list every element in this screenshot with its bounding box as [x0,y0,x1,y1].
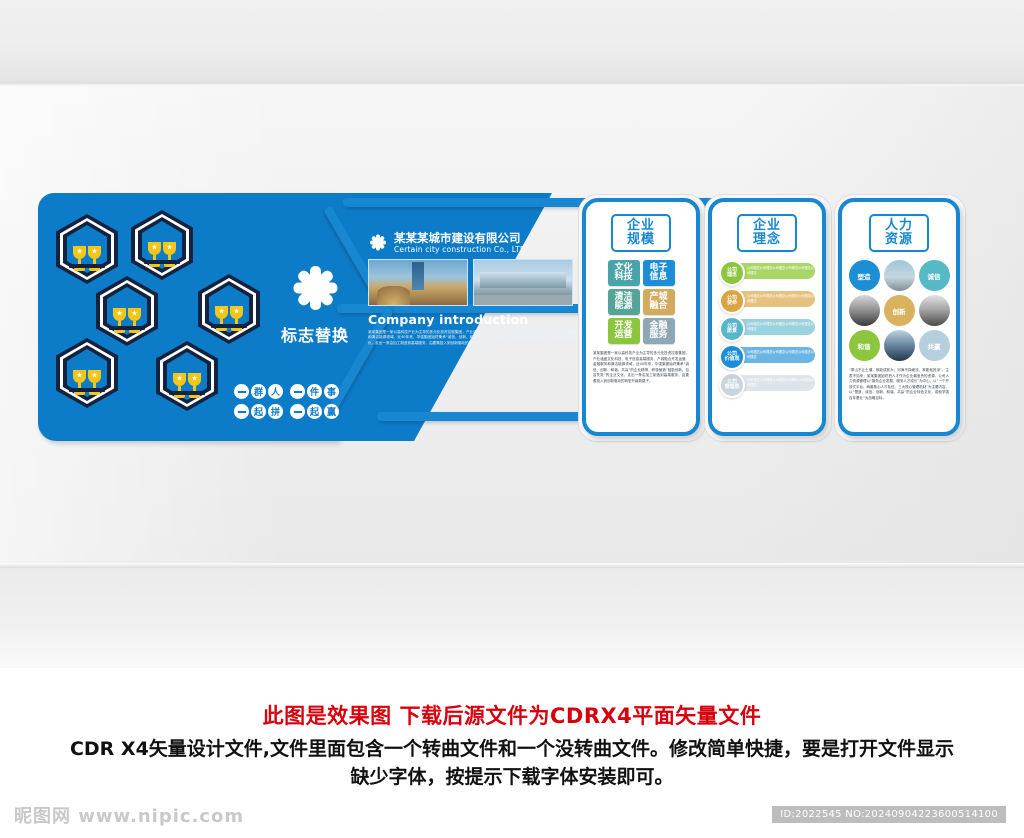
slogan-block: 群 人 件 事 起 拼 起 赢 [234,384,374,424]
flower-logo-icon-small [368,233,388,253]
company-photos [368,259,578,306]
panel-body-text: 某某集团是一家以高科技产业为主导的多元化投资控股集团，产业涵盖文化科技、电子信息… [593,351,689,385]
business-tag[interactable]: 文化科技 [608,260,640,286]
hex-badge[interactable] [56,338,118,408]
slogan-char: 事 [324,384,339,399]
slogan-char: 群 [251,384,266,399]
business-tag[interactable]: 开发运营 [608,318,640,344]
slogan-char [234,384,249,399]
panel-title: 企业规模 [611,214,671,252]
hex-badge[interactable] [96,276,158,346]
slogan-char [290,384,305,399]
image-id-badge: ID:2022545 NO:20240904223600514100 [772,806,1006,823]
company-intro-body: 某某集团是一家以高科技产业为主导的多元化投资控股集团，产业涵盖文化科技、电子信息… [368,330,578,347]
panel-human-resources[interactable]: 人力资源 塑造 诚信 创新 和谐 共赢 “泰山不让土壤，故能成其大；河海不择细流… [838,198,960,436]
watermark-text: 昵图网 www.nipic.com [14,802,244,828]
business-tag-grid: 文化科技 电子信息 清洁能源 产城融合 开发运营 金融服务 [593,260,689,344]
hr-value-circle[interactable]: 塑造 [849,260,880,291]
slogan-char [290,404,305,419]
black-caption: CDR X4矢量设计文件,文件里面包含一个转曲文件和一个没转曲文件。修改简单快捷… [62,736,962,791]
screenshot-canvas: 标志替换 某某某城市建设有限公司 Certain city constructi… [0,0,1024,838]
panel-company-scale[interactable]: 企业规模 文化科技 电子信息 清洁能源 产城融合 开发运营 金融服务 某某集团是… [582,198,700,436]
hr-value-circle[interactable]: 共赢 [919,330,950,361]
list-item[interactable]: 公司理念公司理念公司理念公司理念公司理念公司理念 公司使命 [719,288,815,310]
list-item[interactable]: 公司理念公司理念公司理念公司理念公司理念公司理念 公司价值观 [719,344,815,366]
business-tag[interactable]: 金融服务 [643,318,675,344]
hex-badge[interactable] [131,210,193,280]
panel-body-text: “泰山不让土壤，故能成其大；河海不择细流，故能就其深”。主表不如来，某某集团始终… [849,368,949,402]
list-item[interactable]: 公司理念公司理念公司理念公司理念公司理念公司理念 公司愿景 [719,316,815,338]
business-tag[interactable]: 清洁能源 [608,289,640,315]
hr-circle-grid: 塑造 诚信 创新 和谐 共赢 [849,260,949,361]
slogan-char [234,404,249,419]
company-intro-title: Company introduction [368,312,578,327]
logo-block[interactable]: 标志替换 [266,244,364,362]
slogan-char: 拼 [268,404,283,419]
trophy-plinth [69,264,105,268]
philosophy-badge: 公司管理观 [719,372,745,398]
hex-badge[interactable] [156,341,218,411]
list-item[interactable]: 公司理念公司理念公司理念公司理念公司理念公司理念 公司理念 [719,260,815,282]
business-people-photo [919,295,950,326]
flower-logo-icon [287,260,343,316]
team-photo [849,295,880,326]
panel-title: 企业理念 [737,214,797,252]
company-header: 某某某城市建设有限公司 Certain city construction Co… [368,232,578,254]
philosophy-badge: 公司使命 [719,288,745,314]
philosophy-badge: 公司理念 [719,260,745,286]
list-item[interactable]: 公司理念公司理念公司理念公司理念公司理念公司理念 公司管理观 [719,372,815,394]
philosophy-badge: 公司愿景 [719,316,745,342]
logo-placeholder-label: 标志替换 [281,322,349,346]
hex-badge[interactable] [56,214,118,284]
slogan-char: 件 [307,384,322,399]
company-intro-card: 某某某城市建设有限公司 Certain city construction Co… [368,232,578,372]
floor-surface [0,568,1024,668]
business-tag[interactable]: 产城融合 [643,289,675,315]
red-caption: 此图是效果图 下载后源文件为CDRX4平面矢量文件 [0,700,1024,730]
company-name-en: Certain city construction Co., LTD [394,245,526,254]
building-photo [884,260,915,291]
hr-value-circle[interactable]: 和谐 [849,330,880,361]
slogan-char: 人 [268,384,283,399]
philosophy-list: 公司理念公司理念公司理念公司理念公司理念公司理念 公司理念 公司理念公司理念公司… [719,260,815,394]
hr-value-circle[interactable]: 创新 [884,295,915,326]
hex-badge[interactable] [198,274,260,344]
slogan-char: 赢 [324,404,339,419]
philosophy-badge: 公司价值观 [719,344,745,370]
slogan-line-2: 起 拼 起 赢 [234,404,374,419]
ceiling [0,0,1024,82]
slogan-char: 起 [307,404,322,419]
city-skyline-photo [368,259,468,306]
slogan-line-1: 群 人 件 事 [234,384,374,399]
skyline-photo [884,330,915,361]
footer-bar: 昵图网 www.nipic.com ID:2022545 NO:20240904… [0,796,1024,838]
hr-value-circle[interactable]: 诚信 [919,260,950,291]
panel-company-philosophy[interactable]: 企业理念 公司理念公司理念公司理念公司理念公司理念公司理念 公司理念 公司理念公… [708,198,826,436]
company-name-cn: 某某某城市建设有限公司 [394,232,526,245]
business-tag[interactable]: 电子信息 [643,260,675,286]
slogan-char: 起 [251,404,266,419]
modern-building-photo [473,259,573,306]
panel-title: 人力资源 [869,214,929,252]
